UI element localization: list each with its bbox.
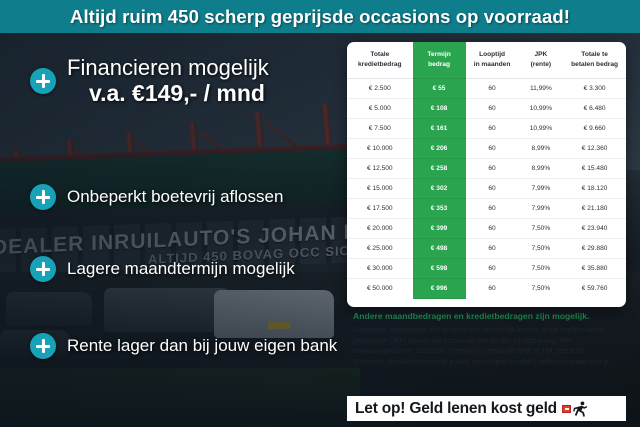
table-row: € 17.500€ 353607,99%€ 21.180 — [347, 199, 626, 219]
table-cell: € 25.000 — [347, 239, 413, 259]
table-cell: 60 — [466, 239, 519, 259]
table-cell: € 18.120 — [563, 179, 626, 199]
table-cell: 7,99% — [519, 199, 564, 219]
table-cell: € 258 — [413, 159, 466, 179]
table-cell: € 598 — [413, 259, 466, 279]
feature-list: Financieren mogelijk v.a. €149,- / mnd O… — [26, 44, 346, 389]
table-cell: € 23.940 — [563, 219, 626, 239]
rates-card: TotalekredietbedragTermijnbedragLooptijd… — [347, 42, 626, 307]
column-header-line: in maanden — [466, 60, 519, 70]
table-cell: € 50.000 — [347, 279, 413, 299]
table-cell: € 15.000 — [347, 179, 413, 199]
rates-table: TotalekredietbedragTermijnbedragLooptijd… — [347, 42, 626, 299]
table-cell: € 17.500 — [347, 199, 413, 219]
table-cell: 60 — [466, 119, 519, 139]
table-cell: € 9.660 — [563, 119, 626, 139]
table-cell: € 20.000 — [347, 219, 413, 239]
table-cell: 10,99% — [519, 99, 564, 119]
rates-table-head: TotalekredietbedragTermijnbedragLooptijd… — [347, 42, 626, 79]
table-cell: € 12.360 — [563, 139, 626, 159]
feature-item-penalty-free-repayment: Onbeperkt boetevrij aflossen — [30, 184, 283, 210]
column-header-line: bedrag — [413, 60, 466, 70]
table-row: € 12.500€ 258608,99%€ 15.480 — [347, 159, 626, 179]
table-cell: 8,99% — [519, 139, 564, 159]
table-row: € 7.500€ 1616010,99%€ 9.660 — [347, 119, 626, 139]
plus-icon — [30, 68, 56, 94]
table-cell: 60 — [466, 199, 519, 219]
feature-label: Financieren mogelijk v.a. €149,- / mnd — [67, 56, 269, 106]
table-cell: € 29.880 — [563, 239, 626, 259]
plus-icon — [30, 256, 56, 282]
table-cell: € 7.500 — [347, 119, 413, 139]
warning-icon-group — [562, 401, 588, 417]
table-cell: 60 — [466, 279, 519, 299]
column-header-line: betalen bedrag — [563, 60, 626, 70]
table-cell: € 302 — [413, 179, 466, 199]
table-cell: € 5.000 — [347, 99, 413, 119]
column-header-line: kredietbedrag — [347, 60, 413, 70]
table-cell: 60 — [466, 219, 519, 239]
advertisement-banner: DEALER INRUILAUTO'S JOHAN MEURE ALTIJD 4… — [0, 0, 640, 427]
table-cell: 60 — [466, 99, 519, 119]
table-row: € 50.000€ 996607,50%€ 59.760 — [347, 279, 626, 299]
feature-item-lower-monthly-term: Lagere maandtermijn mogelijk — [30, 256, 295, 282]
table-cell: 7,50% — [519, 239, 564, 259]
feature-label: Lagere maandtermijn mogelijk — [67, 259, 295, 279]
table-header-row: TotalekredietbedragTermijnbedragLooptijd… — [347, 42, 626, 79]
disclaimer-block: Andere maandbedragen en kredietbedragen … — [347, 311, 626, 380]
column-header-line: Totale — [347, 50, 413, 60]
table-cell: 60 — [466, 79, 519, 99]
card-bottom-spacer — [347, 299, 626, 307]
table-cell: € 3.300 — [563, 79, 626, 99]
column-header-line: JPK — [519, 50, 564, 60]
table-cell: 7,50% — [519, 279, 564, 299]
table-cell: 8,99% — [519, 159, 564, 179]
plus-icon — [30, 184, 56, 210]
headline-text: Altijd ruim 450 scherp geprijsde occasio… — [70, 6, 570, 28]
column-header-4: Totale tebetalen bedrag — [563, 42, 626, 79]
rates-table-body: € 2.500€ 556011,99%€ 3.300€ 5.000€ 10860… — [347, 79, 626, 299]
table-cell: 7,50% — [519, 259, 564, 279]
stop-sign-icon — [562, 405, 571, 413]
feature-label: Onbeperkt boetevrij aflossen — [67, 187, 283, 207]
feature-item-lower-interest: Rente lager dan bij jouw eigen bank — [30, 333, 337, 359]
table-cell: 60 — [466, 259, 519, 279]
feature-line-1: Financieren mogelijk — [67, 55, 269, 80]
table-cell: 60 — [466, 159, 519, 179]
table-row: € 30.000€ 598607,50%€ 35.880 — [347, 259, 626, 279]
table-cell: € 498 — [413, 239, 466, 259]
running-person-icon — [573, 401, 588, 417]
table-row: € 15.000€ 302607,99%€ 18.120 — [347, 179, 626, 199]
table-cell: € 55 — [413, 79, 466, 99]
feature-line-2: v.a. €149,- / mnd — [89, 81, 269, 107]
feature-item-financing: Financieren mogelijk v.a. €149,- / mnd — [30, 56, 269, 106]
table-cell: € 206 — [413, 139, 466, 159]
table-cell: € 353 — [413, 199, 466, 219]
table-cell: € 12.500 — [347, 159, 413, 179]
table-cell: € 399 — [413, 219, 466, 239]
credit-warning-bar: Let op! Geld lenen kost geld — [347, 396, 626, 421]
headline-bar: Altijd ruim 450 scherp geprijsde occasio… — [0, 0, 640, 33]
table-row: € 5.000€ 1086010,99%€ 6.480 — [347, 99, 626, 119]
column-header-3: JPK(rente) — [519, 42, 564, 79]
column-header-line: Totale te — [563, 50, 626, 60]
table-row: € 25.000€ 498607,50%€ 29.880 — [347, 239, 626, 259]
table-cell: € 15.480 — [563, 159, 626, 179]
column-header-0: Totalekredietbedrag — [347, 42, 413, 79]
column-header-line: Looptijd — [466, 50, 519, 60]
table-cell: 7,99% — [519, 179, 564, 199]
table-cell: 60 — [466, 139, 519, 159]
table-cell: € 59.760 — [563, 279, 626, 299]
column-header-line: (rente) — [519, 60, 564, 70]
table-cell: € 996 — [413, 279, 466, 299]
table-cell: € 10.000 — [347, 139, 413, 159]
feature-label: Rente lager dan bij jouw eigen bank — [67, 336, 337, 356]
table-row: € 2.500€ 556011,99%€ 3.300 — [347, 79, 626, 99]
table-cell: € 161 — [413, 119, 466, 139]
table-row: € 20.000€ 399607,50%€ 23.940 — [347, 219, 626, 239]
table-cell: € 21.180 — [563, 199, 626, 219]
table-row: € 10.000€ 206608,99%€ 12.360 — [347, 139, 626, 159]
credit-warning-text: Let op! Geld lenen kost geld — [355, 400, 557, 418]
column-header-line: Termijn — [413, 50, 466, 60]
column-header-1: Termijnbedrag — [413, 42, 466, 79]
table-cell: € 35.880 — [563, 259, 626, 279]
disclaimer-body: Genoemde voorbeelden zijn op basis van p… — [353, 326, 620, 380]
table-cell: 11,99% — [519, 79, 564, 99]
table-cell: 10,99% — [519, 119, 564, 139]
column-header-2: Looptijdin maanden — [466, 42, 519, 79]
plus-icon — [30, 333, 56, 359]
table-cell: 60 — [466, 179, 519, 199]
disclaimer-title: Andere maandbedragen en kredietbedragen … — [353, 311, 626, 321]
table-cell: € 2.500 — [347, 79, 413, 99]
table-cell: € 30.000 — [347, 259, 413, 279]
table-cell: € 6.480 — [563, 99, 626, 119]
table-cell: 7,50% — [519, 219, 564, 239]
table-cell: € 108 — [413, 99, 466, 119]
